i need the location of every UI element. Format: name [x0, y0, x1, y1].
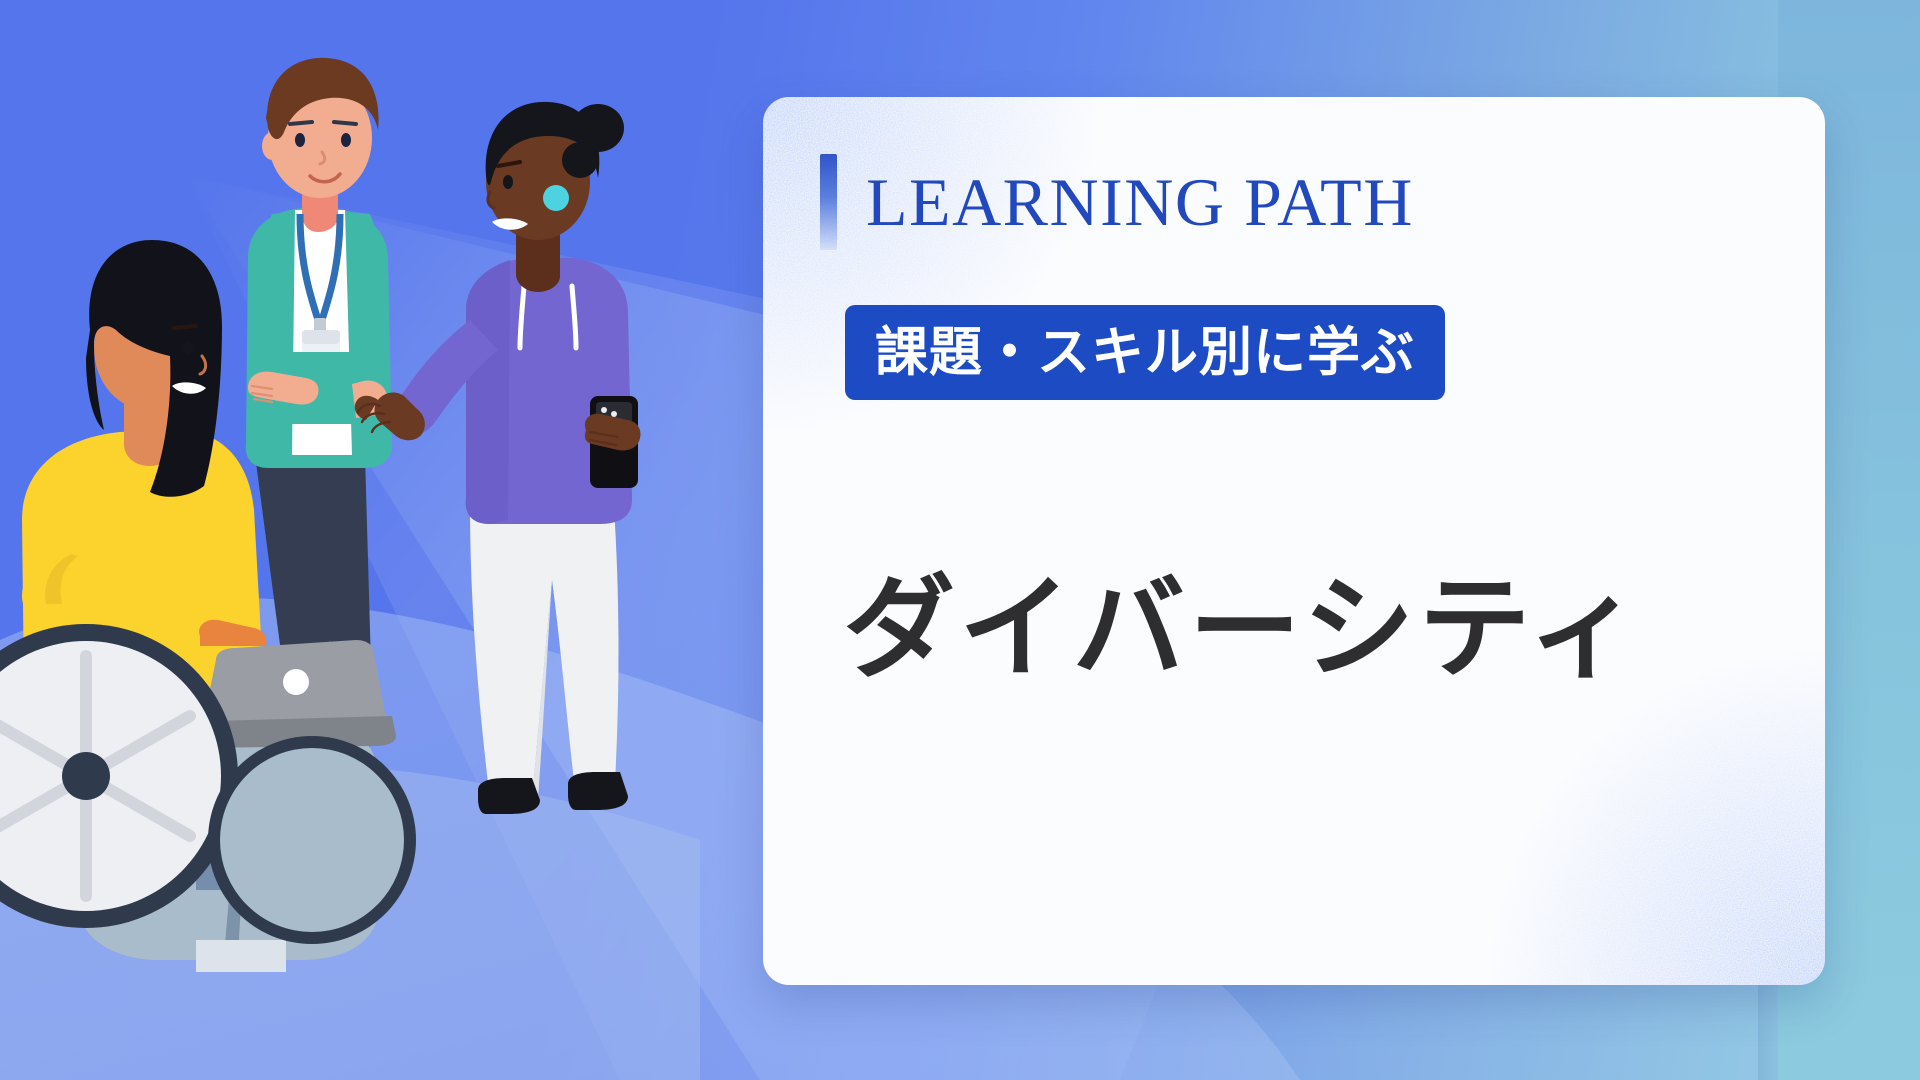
page-title: ダイバーシティ: [843, 562, 1644, 696]
wheelchair-caster: [208, 736, 416, 944]
figure-woman-with-phone: [355, 102, 641, 814]
category-badge-label: 課題・スキル別に学ぶ: [875, 326, 1415, 379]
eyebrow: LEARNING PATH: [820, 153, 1414, 251]
category-badge[interactable]: 課題・スキル別に学ぶ: [845, 305, 1445, 400]
learning-path-card: LEARNING PATH 課題・スキル別に学ぶ ダイバーシティ: [763, 97, 1825, 985]
card-content: LEARNING PATH 課題・スキル別に学ぶ ダイバーシティ: [763, 97, 1825, 985]
banner-canvas: LEARNING PATH 課題・スキル別に学ぶ ダイバーシティ: [0, 0, 1920, 1080]
eyebrow-label: LEARNING PATH: [866, 168, 1414, 236]
accent-bar-icon: [820, 154, 837, 250]
people-illustration: [0, 0, 700, 1080]
